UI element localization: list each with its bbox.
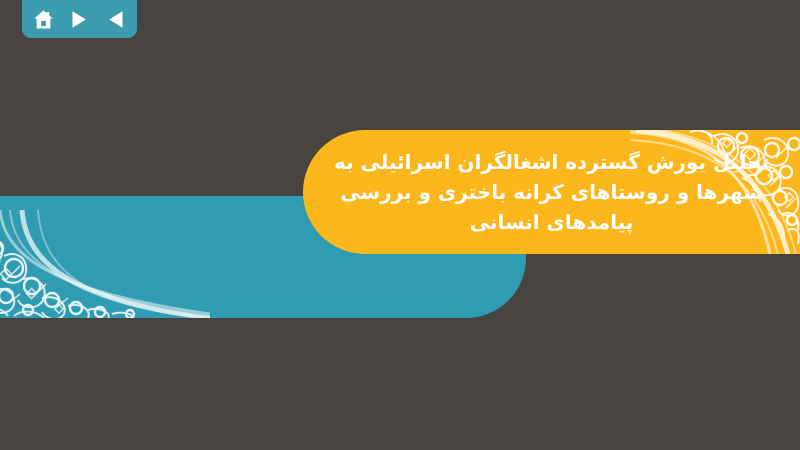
triangle-right-icon <box>71 10 88 29</box>
next-slide-button[interactable] <box>65 6 95 32</box>
title-line-1: تحلیل یورش گسترده اشغالگران اسرائیلی به <box>334 147 769 177</box>
home-icon <box>33 9 54 30</box>
title-line-2: شهرها و روستاهای کرانه باختری و بررسی <box>340 177 763 207</box>
teal-arabesque-ornament-icon <box>0 210 210 318</box>
slide-navigation-bar <box>22 0 137 38</box>
slide-title: تحلیل یورش گسترده اشغالگران اسرائیلی به … <box>303 130 800 254</box>
previous-slide-button[interactable] <box>100 6 130 32</box>
home-button[interactable] <box>29 6 59 32</box>
triangle-left-icon <box>107 10 124 29</box>
title-line-3: پیامدهای انسانی <box>470 207 634 237</box>
slide-canvas: تحلیل یورش گسترده اشغالگران اسرائیلی به … <box>0 0 800 450</box>
title-banner: تحلیل یورش گسترده اشغالگران اسرائیلی به … <box>303 130 800 254</box>
